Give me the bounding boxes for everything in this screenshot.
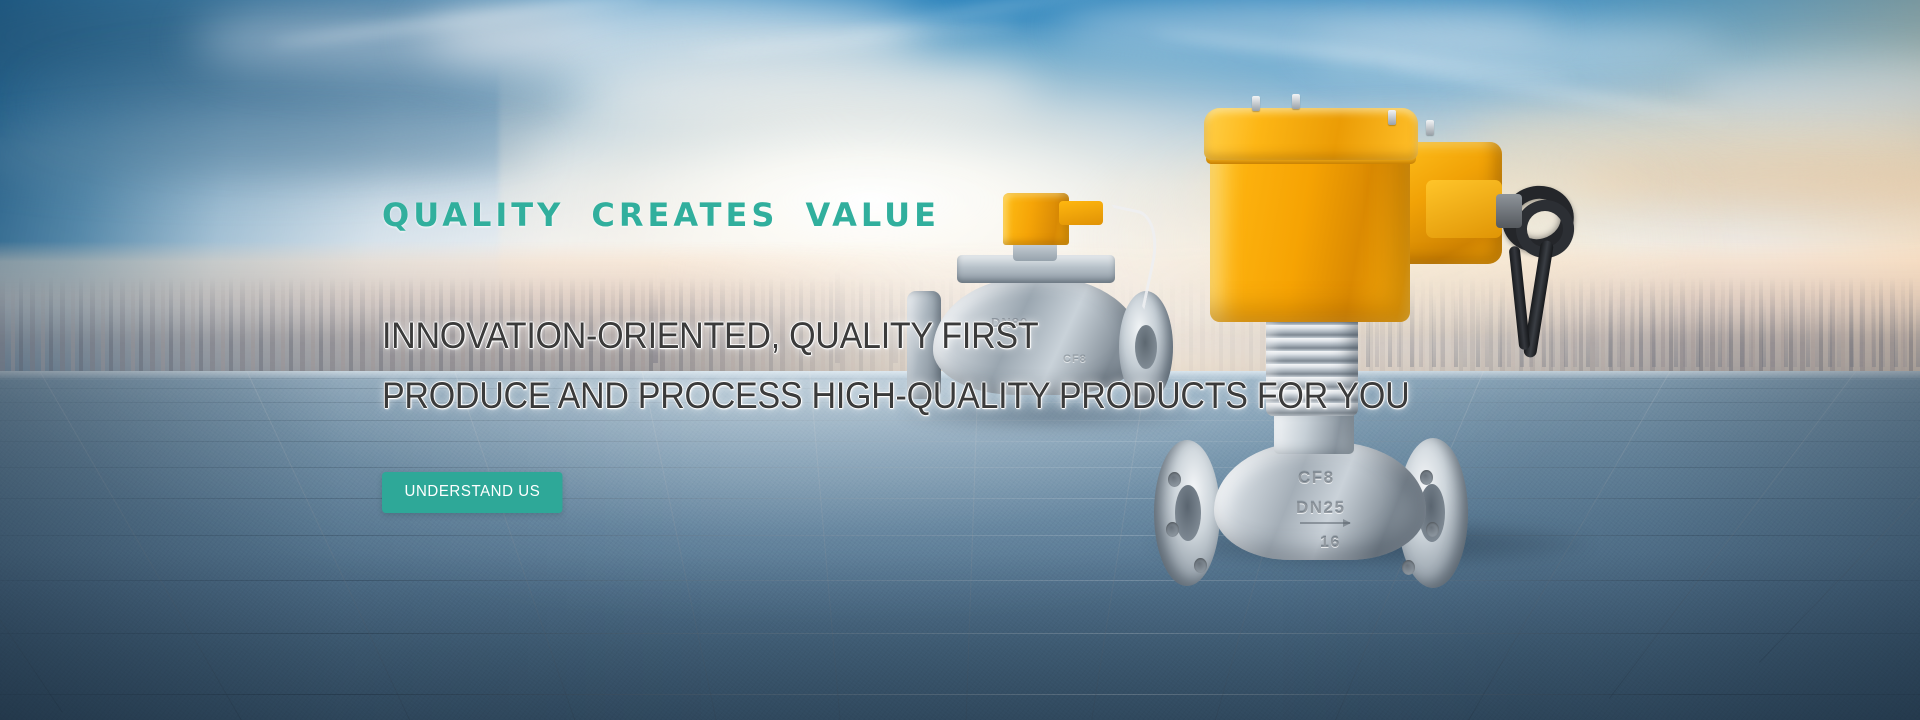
flange-bolt-hole	[1426, 522, 1439, 537]
cable-lead	[1509, 246, 1531, 351]
cap-bolt	[1252, 96, 1260, 111]
cloud-shape	[0, 125, 538, 181]
cap-bolt	[1426, 120, 1434, 135]
front-valve-terminal-box	[1426, 180, 1502, 238]
flange-bolt-hole	[1166, 522, 1179, 537]
hero-subheading-line-1: INNOVATION-ORIENTED, QUALITY FIRST	[382, 306, 1302, 366]
cable-gland	[1496, 194, 1522, 228]
flange-bolt-hole	[1420, 470, 1433, 485]
front-valve-pressure-marking: 16	[1320, 534, 1341, 552]
hero-banner: DN80 CF8 CF8 DN25 16	[0, 0, 1920, 720]
front-valve-cap-top	[1204, 108, 1418, 160]
flow-direction-arrow-icon	[1300, 522, 1350, 524]
understand-us-button[interactable]: UNDERSTAND US	[382, 472, 563, 513]
hero-headline: QUALITY CREATES VALUE	[382, 196, 1382, 234]
flange-bolt-hole	[1194, 558, 1207, 573]
cap-bolt	[1388, 110, 1396, 125]
hero-subheading: INNOVATION-ORIENTED, QUALITY FIRST PRODU…	[382, 306, 1382, 426]
flange-bolt-hole	[1402, 560, 1415, 575]
cloud-shape	[38, 65, 576, 146]
cap-bolt	[1292, 94, 1300, 109]
hero-subheading-line-2: PRODUCE AND PROCESS HIGH-QUALITY PRODUCT…	[382, 366, 1302, 426]
hero-copy-block: QUALITY CREATES VALUE INNOVATION-ORIENTE…	[382, 196, 1382, 513]
